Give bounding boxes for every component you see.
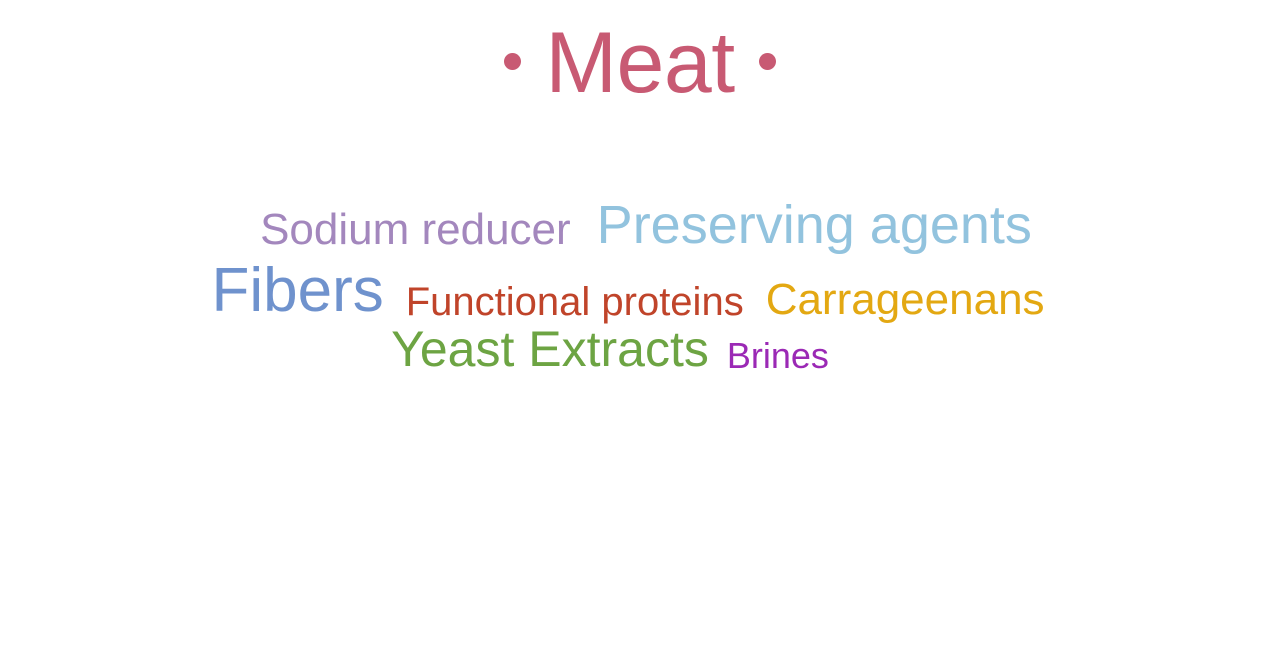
word-cloud-term-carrageenans[interactable]: Carrageenans — [766, 278, 1045, 322]
word-cloud-term-functional-proteins[interactable]: Functional proteins — [406, 282, 744, 322]
slide-title-text: Meat — [545, 18, 734, 108]
word-cloud-row: Sodium reducerPreserving agents — [0, 198, 1280, 260]
word-cloud-term-sodium-reducer[interactable]: Sodium reducer — [260, 208, 571, 252]
word-cloud-term-brines[interactable]: Brines — [727, 338, 829, 374]
slide-canvas: Meat Sodium reducerPreserving agents Fib… — [0, 0, 1280, 656]
word-cloud-term-yeast-extracts[interactable]: Yeast Extracts — [391, 324, 709, 374]
word-cloud: Sodium reducerPreserving agents FibersFu… — [0, 198, 1280, 398]
word-cloud-term-fibers[interactable]: Fibers — [211, 260, 383, 322]
bullet-dot-right-icon — [759, 53, 776, 70]
word-cloud-term-preserving-agents[interactable]: Preserving agents — [597, 198, 1032, 252]
word-cloud-row: FibersFunctional proteinsCarrageenans — [0, 260, 1280, 322]
bullet-dot-left-icon — [504, 53, 521, 70]
word-cloud-row: Yeast ExtractsBrines — [0, 324, 1280, 386]
slide-title: Meat — [0, 18, 1280, 108]
